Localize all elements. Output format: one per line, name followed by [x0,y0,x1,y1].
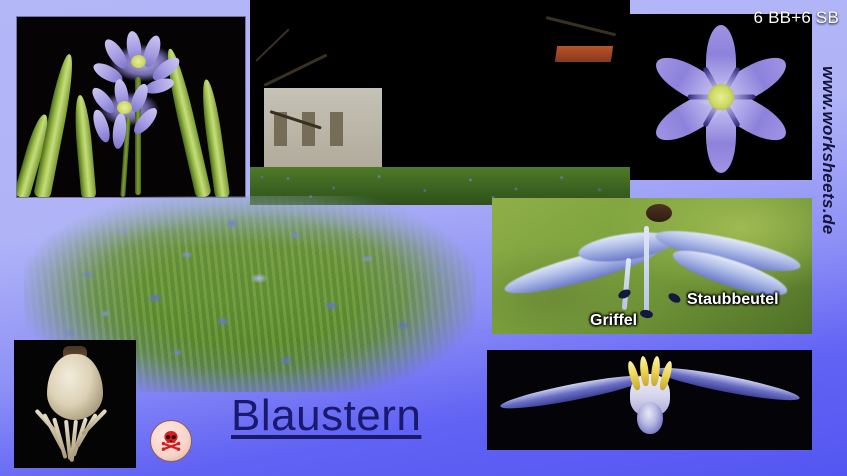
flower-center [708,84,734,110]
flower-parts-image [492,198,812,334]
tree-branch [263,53,327,86]
flower-center [131,55,146,68]
tree-branch [255,28,289,61]
style-griffel [644,226,649,318]
label-staubbeutel: Staubbeutel [687,291,779,309]
caption-six-tepals-six-stamens: 6 BB+6 SB [754,8,839,28]
anther-staubbeutel [639,309,653,319]
building-window [330,112,343,146]
photo-star-flower-macro [630,14,812,180]
anther-staubbeutel [667,291,682,304]
star-flower-image [630,14,812,180]
flower-center [117,101,132,114]
flower-pair-image [17,17,245,197]
label-griffel: Griffel [590,312,637,330]
skull-and-crossbones-icon [150,420,192,462]
flower-bud [646,204,672,222]
photo-flower-parts-closeup [492,198,812,334]
park-tree-image [250,0,630,205]
page-title: Blaustern [231,394,421,438]
building-roof [555,46,613,62]
poster-canvas: 6 BB+6 SB Griffel Staubbeutel [0,0,847,476]
leaf-blade [72,95,96,197]
flower-petal [143,76,175,97]
photo-flower-pair-on-black [17,17,245,197]
watermark-url: www.worksheets.de [815,30,841,270]
title-band [0,384,847,476]
photo-park-tree-meadow [250,0,630,205]
building-window [302,112,315,146]
tree-branch [546,16,617,36]
